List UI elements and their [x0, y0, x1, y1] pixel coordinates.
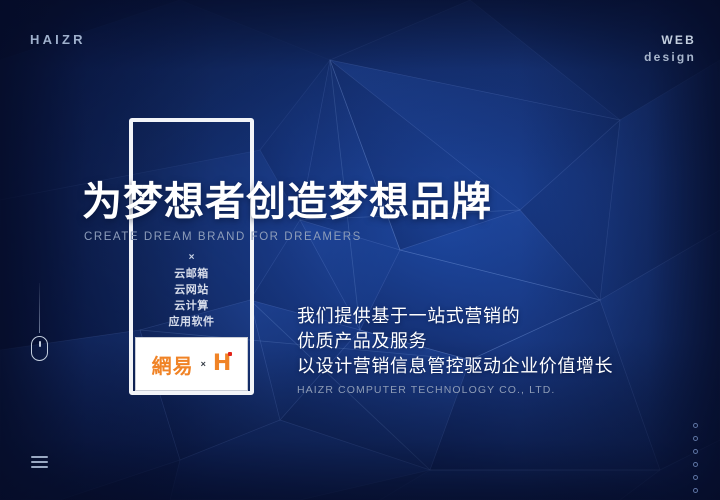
haizr-mark-icon: H [213, 353, 231, 375]
hamburger-menu-icon[interactable] [31, 456, 48, 469]
polygon-background [0, 0, 720, 500]
hero-subheadline: CREATE DREAM BRAND FOR DREAMERS [84, 231, 362, 243]
menu-item-applications[interactable]: 应用软件 [133, 314, 250, 330]
mouse-wheel-dot [39, 341, 41, 347]
netease-logo-text: 網易 [152, 350, 194, 379]
hero-headline: 为梦想者创造梦想品牌 [82, 182, 492, 222]
partnership-cross-icon: × [201, 359, 206, 369]
pagination-dot-2[interactable] [693, 436, 698, 441]
header-tagline: WEB design [644, 32, 696, 67]
tagline-line-2: design [644, 49, 696, 66]
menu-item-cloud-mail[interactable]: 云邮箱 [133, 266, 250, 282]
partner-logo-card[interactable]: 網易 × H [135, 337, 248, 391]
hamburger-bar-2 [31, 461, 48, 463]
description-line-1: 我们提供基于一站式营销的 [297, 304, 613, 329]
hamburger-bar-1 [31, 456, 48, 458]
description-line-2: 优质产品及服务 [297, 329, 613, 354]
product-panel-content: × 云邮箱 云网站 云计算 应用软件 網易 × H [133, 122, 250, 391]
menu-item-cloud-computing[interactable]: 云计算 [133, 298, 250, 314]
menu-item-cloud-website[interactable]: 云网站 [133, 282, 250, 298]
product-menu-list: 云邮箱 云网站 云计算 应用软件 [133, 266, 250, 330]
pagination-dot-3[interactable] [693, 449, 698, 454]
mouse-scroll-icon[interactable] [31, 336, 48, 361]
description-block: 我们提供基于一站式营销的 优质产品及服务 以设计营销信息管控驱动企业价值增长 H… [297, 304, 613, 396]
panel-separator-mark: × [133, 252, 250, 263]
hamburger-bar-3 [31, 466, 48, 468]
hero-banner: HAIZR WEB design × 云邮箱 云网站 云计算 应用软件 網易 ×… [0, 0, 720, 500]
site-logo[interactable]: HAIZR [30, 32, 86, 47]
pagination-dot-5[interactable] [693, 475, 698, 480]
pagination-dot-4[interactable] [693, 462, 698, 467]
pagination-dot-1[interactable] [693, 423, 698, 428]
slide-pagination[interactable] [693, 423, 698, 493]
vignette-overlay [0, 0, 720, 500]
description-line-3: 以设计营销信息管控驱动企业价值增长 [297, 354, 613, 379]
company-name-english: HAIZR COMPUTER TECHNOLOGY CO., LTD. [297, 384, 613, 396]
pagination-dot-6[interactable] [693, 488, 698, 493]
scroll-indicator-line [39, 283, 40, 333]
tagline-line-1: WEB [644, 32, 696, 49]
